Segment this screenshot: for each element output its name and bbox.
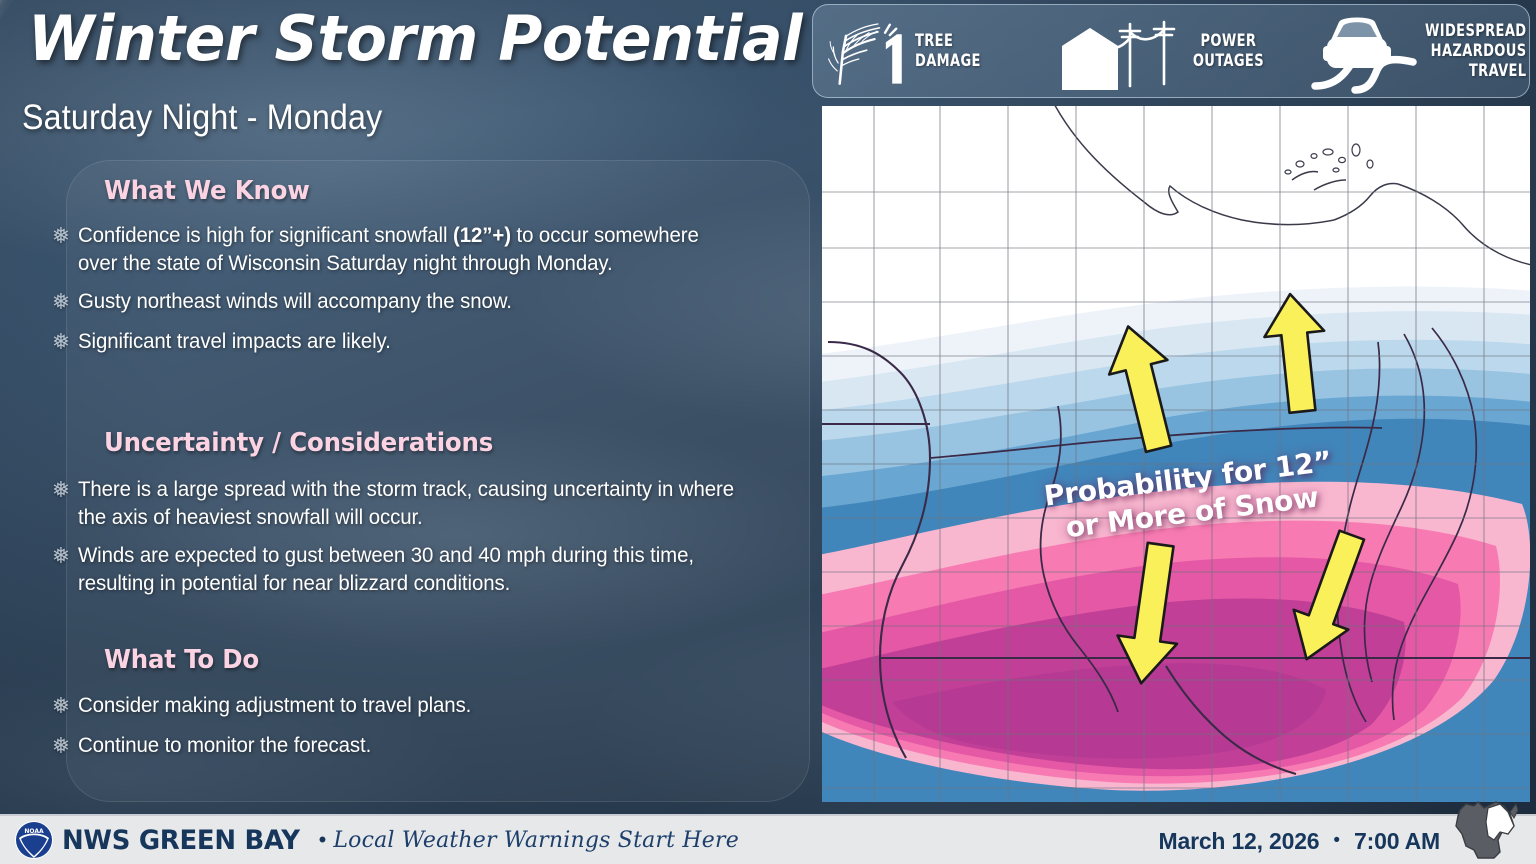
snow-probability-map: [822, 106, 1530, 802]
probability-contour-plot: [822, 106, 1530, 802]
list-item-text: Confidence is high for significant snowf…: [78, 222, 734, 277]
list-item: ❅ There is a large spread with the storm…: [44, 476, 816, 531]
list-item: ❅ Gusty northeast winds will accompany t…: [44, 288, 816, 317]
page-title: Winter Storm Potential: [28, 6, 802, 71]
footer-office-name: NWS GREEN BAY: [62, 825, 300, 856]
footer-left: NOAA NWS GREEN BAY • Local Weather Warni…: [0, 820, 739, 860]
slippery-road-car-icon: [1309, 6, 1421, 96]
snowflake-bullet-icon: ❅: [44, 476, 78, 505]
section-bullets-what-to-do: ❅ Consider making adjustment to travel p…: [44, 692, 816, 772]
list-item-text: Continue to monitor the forecast.: [78, 732, 734, 760]
probability-bands: [822, 287, 1530, 802]
list-item: ❅ Continue to monitor the forecast.: [44, 732, 816, 761]
list-item-text: Gusty northeast winds will accompany the…: [78, 288, 734, 316]
page-subtitle: Saturday Night - Monday: [22, 98, 382, 138]
list-item: ❅ Confidence is high for significant sno…: [44, 222, 816, 277]
hazard-power-outages-label: POWER OUTAGES: [1193, 31, 1264, 71]
snowflake-bullet-icon: ❅: [44, 542, 78, 571]
house-powerline-icon: [1052, 6, 1182, 96]
hazard-hazardous-travel: WIDESPREAD HAZARDOUS TRAVEL: [1309, 5, 1530, 97]
noaa-logo-icon: NOAA: [14, 820, 54, 860]
wisconsin-state-icon: [1444, 796, 1528, 862]
hazard-tree-damage: TREE DAMAGE: [819, 5, 1014, 97]
section-heading-what-to-do: What To Do: [104, 645, 259, 675]
list-item: ❅ Winds are expected to gust between 30 …: [44, 542, 816, 597]
snowflake-bullet-icon: ❅: [44, 692, 78, 721]
list-item-text: Consider making adjustment to travel pla…: [78, 692, 734, 720]
hazard-impact-banner: TREE DAMAGE POWER OUTAGES: [812, 4, 1530, 98]
list-item-text: Significant travel impacts are likely.: [78, 328, 734, 356]
bent-tree-icon: [819, 6, 911, 96]
snowflake-bullet-icon: ❅: [44, 732, 78, 761]
list-item: ❅ Consider making adjustment to travel p…: [44, 692, 816, 721]
section-bullets-uncertainty: ❅ There is a large spread with the storm…: [44, 476, 816, 608]
snowflake-bullet-icon: ❅: [44, 288, 78, 317]
svg-text:NOAA: NOAA: [24, 828, 44, 835]
snowflake-bullet-icon: ❅: [44, 222, 78, 251]
section-heading-what-we-know: What We Know: [104, 176, 310, 206]
snowflake-bullet-icon: ❅: [44, 328, 78, 357]
footer-dot-separator: •: [319, 827, 327, 853]
list-item-text: Winds are expected to gust between 30 an…: [78, 542, 760, 597]
footer-bar: NOAA NWS GREEN BAY • Local Weather Warni…: [0, 814, 1536, 864]
hazard-hazardous-travel-label: WIDESPREAD HAZARDOUS TRAVEL: [1425, 21, 1526, 81]
hazard-power-outages: POWER OUTAGES: [1052, 5, 1269, 97]
footer-time: 7:00 AM: [1354, 828, 1440, 855]
section-bullets-what-we-know: ❅ Confidence is high for significant sno…: [44, 222, 816, 368]
footer-date: March 12, 2026: [1159, 828, 1320, 855]
footer-right: March 12, 2026 • 7:00 AM: [1159, 816, 1440, 864]
list-item: ❅ Significant travel impacts are likely.: [44, 328, 816, 357]
list-item-text: There is a large spread with the storm t…: [78, 476, 760, 531]
footer-time-separator: •: [1333, 830, 1340, 852]
footer-tagline: Local Weather Warnings Start Here: [333, 828, 739, 853]
section-heading-uncertainty: Uncertainty / Considerations: [104, 428, 493, 458]
hazard-tree-damage-label: TREE DAMAGE: [915, 31, 1002, 71]
